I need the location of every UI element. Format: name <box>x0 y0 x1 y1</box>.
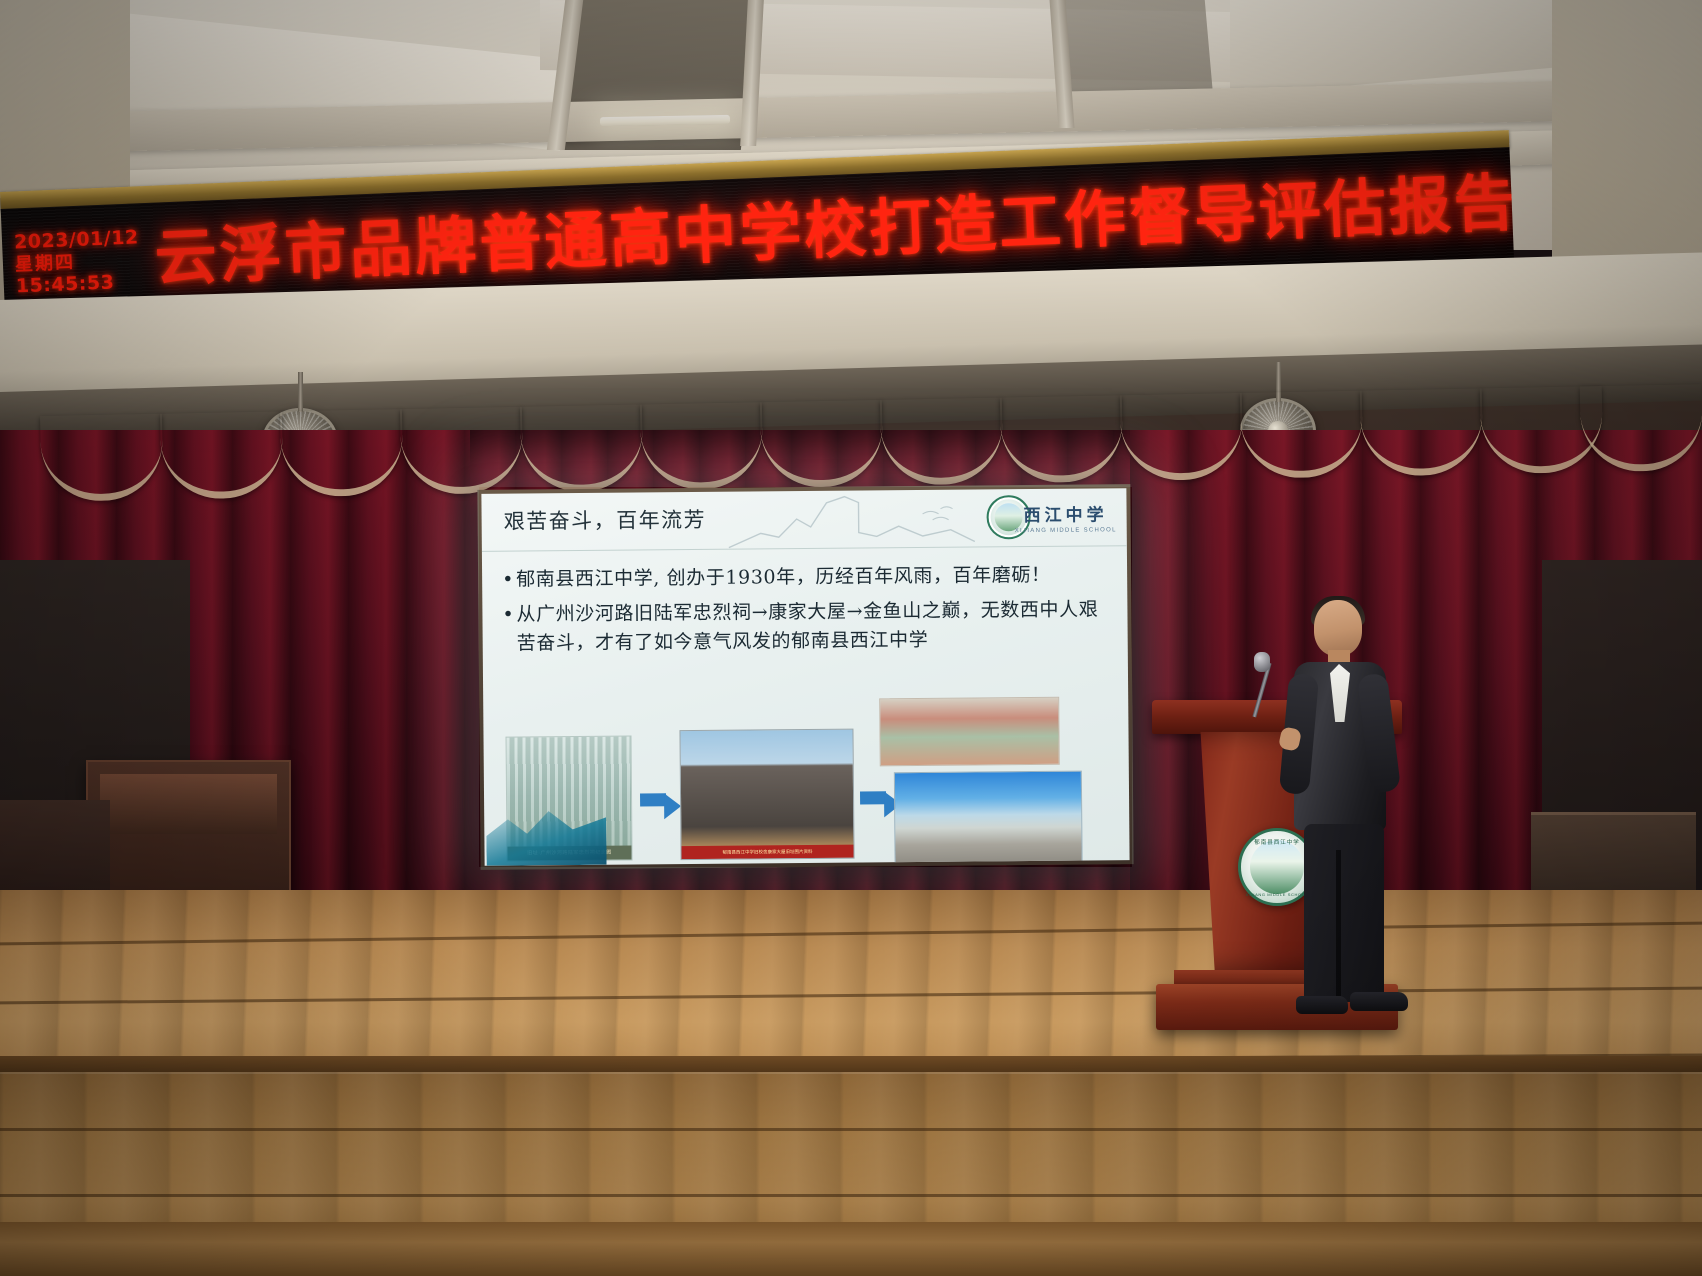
arrow-1-body <box>640 793 666 806</box>
bullet-text: 从广州沙河路旧陆军忠烈祠→康家大屋→金鱼山之巅，无数西中人艰苦奋斗，才有了如今意… <box>516 595 1107 658</box>
arrow-1-head <box>664 793 681 819</box>
stage-step <box>0 1222 1702 1276</box>
school-name-en: XIJIANG MIDDLE SCHOOL <box>1015 527 1117 534</box>
auditorium-scene: 2023/01/12 星期四 15:45:53 云浮市品牌普通高中学校打造工作督… <box>0 0 1702 1276</box>
led-clock: 2023/01/12 星期四 15:45:53 <box>2 226 157 297</box>
slide-photo-kang-mansion: 郁南县西江中学旧校舍康家大屋旧址图片资料 <box>679 729 854 861</box>
slide-title: 艰苦奋斗，百年流芳 <box>503 504 706 536</box>
presentation-slide: 艰苦奋斗，百年流芳 西江中学 XIJIANG MIDDLE SCHOOL • 郁… <box>481 488 1129 866</box>
bullet-text: 郁南县西江中学, 创办于1930年，历经百年风雨，百年磨砺！ <box>516 561 1051 595</box>
speaker-legs <box>1304 824 1384 1002</box>
slide-photo-row: 旧址·广州沙河路陆军忠烈祠纪念图 郁南县西江中学旧校舍康家大屋旧址图片资料 <box>483 692 1129 866</box>
slide-bullet: • 郁南县西江中学, 创办于1930年，历经百年风雨，百年磨砺！ <box>502 560 1107 594</box>
bullet-marker: • <box>502 601 510 659</box>
slide-body: • 郁南县西江中学, 创办于1930年，历经百年风雨，百年磨砺！ • 从广州沙河… <box>482 546 1128 659</box>
fan-pole <box>298 372 303 412</box>
arrow-2-body <box>860 791 886 804</box>
speaker-person <box>1288 600 1428 1020</box>
slide-bullet: • 从广州沙河路旧陆军忠烈祠→康家大屋→金鱼山之巅，无数西中人艰苦奋斗，才有了如… <box>502 595 1107 658</box>
floor-foreground <box>0 1072 1702 1276</box>
speaker-shoe-right <box>1350 992 1408 1011</box>
bullet-marker: • <box>502 566 509 595</box>
slide-photo-campus-sketch <box>879 697 1060 767</box>
school-logo-text: 西江中学 XIJIANG MIDDLE SCHOOL <box>1014 500 1116 534</box>
microphone-icon <box>1254 652 1270 672</box>
school-name-cn: 西江中学 <box>1014 500 1116 526</box>
speaker-shoe-left <box>1296 996 1348 1014</box>
slide-photo-new-campus <box>894 771 1083 866</box>
speaker-leg-gap <box>1336 850 1341 996</box>
speaker-head <box>1314 600 1362 656</box>
led-time: 15:45:53 <box>15 270 156 297</box>
mountain-decoration-icon <box>726 492 976 550</box>
photo-caption: 郁南县西江中学旧校舍康家大屋旧址图片资料 <box>681 845 853 860</box>
slide-header: 艰苦奋斗，百年流芳 西江中学 XIJIANG MIDDLE SCHOOL <box>481 488 1126 552</box>
projection-screen: 艰苦奋斗，百年流芳 西江中学 XIJIANG MIDDLE SCHOOL • 郁… <box>477 484 1133 870</box>
